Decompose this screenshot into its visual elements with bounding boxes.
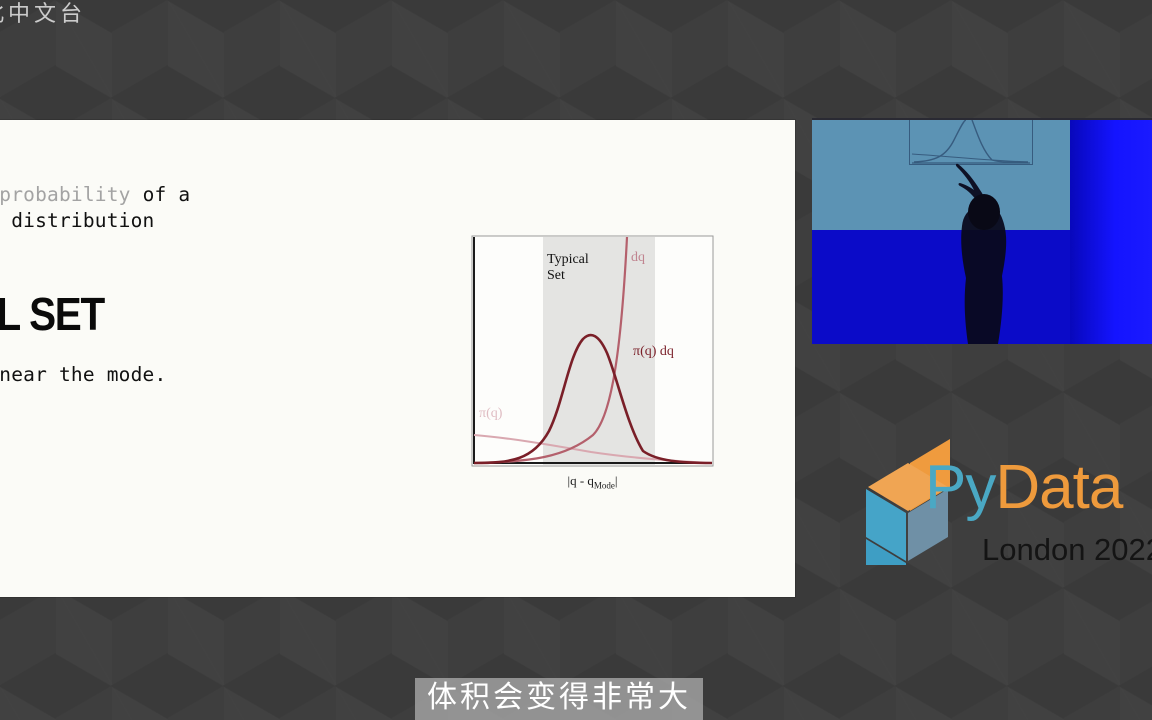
slide-body-line-4: rather than near the mode.: [0, 362, 336, 388]
pydata-wordmark: PyData: [925, 452, 1122, 523]
pydata-event-year: London 2022: [982, 532, 1152, 568]
slide-body-line-2: multivariate distribution: [0, 208, 336, 234]
speaker-silhouette: [950, 156, 1020, 344]
annotation-typical-set-line2: Set: [547, 268, 565, 283]
pydata-wordmark-py: Py: [925, 453, 995, 522]
chart-x-axis-label-main: |q - q: [567, 473, 593, 488]
station-watermark: 北中文台: [0, 0, 86, 28]
slide-body-highlight: probability: [0, 183, 131, 206]
slide-body-line-1-end: of a: [131, 183, 191, 206]
slide-body-line-3: lies in the: [0, 234, 336, 260]
subtitle-bar: 体积会变得非常大: [415, 678, 703, 720]
subtitle-text: 体积会变得非常大: [427, 681, 691, 715]
slide-heading: TYPICAL SET: [0, 288, 278, 340]
presentation-slide: Most of the probability of a multivariat…: [0, 120, 795, 597]
video-player-frame: 北中文台 Most of the probability of a multiv…: [0, 0, 1152, 720]
speaker-camera-feed: [812, 118, 1152, 344]
chart-x-axis-label-sub: Mode: [594, 481, 615, 491]
chart-x-axis-label-end: |: [615, 473, 618, 488]
slide-text-block: Most of the probability of a multivariat…: [0, 182, 336, 388]
annotation-pi-q: π(q): [479, 406, 503, 421]
slide-body-line-1: Most of the probability of a: [0, 182, 336, 208]
pydata-wordmark-data: Data: [995, 453, 1122, 522]
annotation-dq: dq: [631, 250, 645, 265]
speaker-body: [956, 164, 1006, 344]
typical-set-chart: Typical Set dq π(q) dq π(q): [471, 235, 714, 467]
typical-set-figure: Typical Set dq π(q) dq π(q) |q - qMode|: [471, 235, 714, 467]
stage-wall-right: [1070, 120, 1152, 344]
annotation-typical-set-line1: Typical: [547, 252, 589, 267]
speaker-head: [968, 194, 1000, 230]
chart-x-axis-label: |q - qMode|: [471, 473, 714, 491]
annotation-pi-q-dq: π(q) dq: [633, 344, 674, 359]
